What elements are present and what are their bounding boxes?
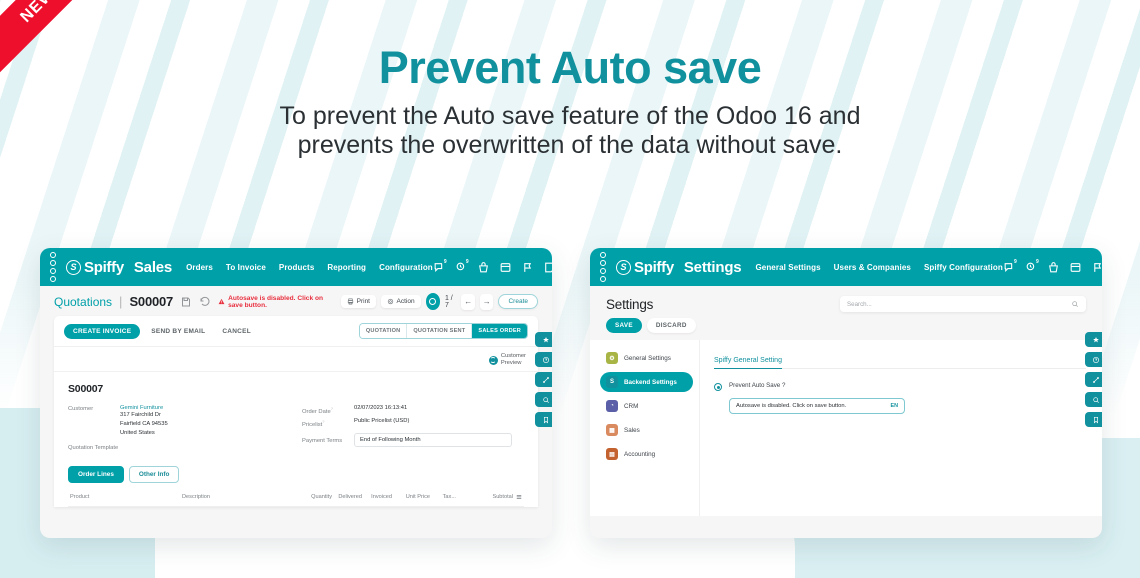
accounting-icon: ▤ xyxy=(606,448,618,460)
record-indicator-icon[interactable] xyxy=(426,293,440,310)
activities-icon[interactable]: 9 xyxy=(455,261,468,274)
order-date-label: Order Date? xyxy=(302,405,354,415)
autosave-message-value: Autosave is disabled. Click on save butt… xyxy=(736,403,891,409)
settings-search-box[interactable] xyxy=(840,296,1086,312)
messages-icon[interactable]: 9 xyxy=(433,261,446,274)
prevent-auto-save-checkbox[interactable] xyxy=(714,383,722,391)
language-badge[interactable]: EN xyxy=(891,403,899,409)
right-nav-menu: General Settings Users & Companies Spiff… xyxy=(755,263,1002,272)
left-navbar-icons: 9 9 xyxy=(433,258,552,276)
pager-count: 1 / 7 xyxy=(445,295,457,309)
left-nav-menu: Orders To Invoice Products Reporting Con… xyxy=(186,263,433,272)
customer-address-line-1: 317 Fairchild Dr xyxy=(120,411,168,420)
help-icon[interactable] xyxy=(1085,352,1102,367)
customer-value-group: Gemini Furniture 317 Fairchild Dr Fairfi… xyxy=(120,405,168,438)
autosave-warning: Autosave is disabled. Click on save butt… xyxy=(218,295,334,309)
flag-icon[interactable] xyxy=(521,261,534,274)
column-subtotal: Subtotal xyxy=(492,494,522,500)
field-payment-terms: Payment Terms End of Following Month xyxy=(302,433,524,447)
sidebar-item-label: CRM xyxy=(624,403,638,410)
messages-icon-right[interactable]: 9 xyxy=(1003,261,1016,274)
action-label: Action xyxy=(397,298,415,305)
customer-preview-line-1: Customer xyxy=(501,353,526,359)
bag-icon[interactable] xyxy=(477,261,490,274)
stage-sales-order[interactable]: SALES ORDER xyxy=(472,324,527,338)
control-bar: Quotations | S00007 Autosave is disabled… xyxy=(40,286,552,316)
section-title: Spiffy General Setting xyxy=(714,357,782,369)
sidebar-item-label: Accounting xyxy=(624,451,655,458)
order-lines-header: Product Description Quantity Delivered I… xyxy=(68,490,524,507)
autosave-warning-text: Autosave is disabled. Click on save butt… xyxy=(228,295,334,309)
customer-address-line-3: United States xyxy=(120,429,168,438)
star-icon[interactable] xyxy=(535,332,552,347)
customer-preview-label: Customer Preview xyxy=(501,353,526,367)
column-tax: Tax... xyxy=(430,494,456,500)
note-icon[interactable] xyxy=(543,261,552,274)
pager-previous-button[interactable]: ← xyxy=(461,294,475,310)
brand-name-right: Spiffy xyxy=(634,259,674,276)
app-name-settings: Settings xyxy=(684,259,742,276)
activities-icon-right[interactable]: 9 xyxy=(1025,261,1038,274)
page-title: Prevent Auto save xyxy=(0,42,1140,94)
sales-icon: ▦ xyxy=(606,424,618,436)
help-icon[interactable] xyxy=(535,352,552,367)
brand-logo-right[interactable]: S Spiffy xyxy=(616,259,674,276)
page-subtitle-line-1: To prevent the Auto save feature of the … xyxy=(0,102,1140,131)
activities-badge-right: 9 xyxy=(1034,259,1041,266)
create-button[interactable]: Create xyxy=(498,294,538,309)
bag-icon-right[interactable] xyxy=(1047,261,1060,274)
left-navbar: S Spiffy Sales Orders To Invoice Product… xyxy=(40,248,552,286)
activities-badge: 9 xyxy=(464,259,471,266)
breadcrumb-quotations[interactable]: Quotations xyxy=(54,295,112,309)
link-icon[interactable] xyxy=(1085,372,1102,387)
customer-label: Customer xyxy=(68,405,120,438)
prevent-auto-save-option: Prevent Auto Save ? xyxy=(714,382,1086,391)
record-body: S00007 Customer Gemini Furniture 317 Fai… xyxy=(54,371,538,507)
column-delivered: Delivered xyxy=(332,494,362,500)
save-icon[interactable] xyxy=(180,296,192,308)
nav-item-to-invoice[interactable]: To Invoice xyxy=(226,263,266,272)
sidebar-item-label: Sales xyxy=(624,427,640,434)
settings-header: Settings xyxy=(590,286,1102,312)
pricelist-label: Pricelist? xyxy=(302,418,354,428)
warning-triangle-icon xyxy=(218,297,225,306)
print-label: Print xyxy=(357,298,370,305)
sidebar-item-label: General Settings xyxy=(624,355,671,362)
prevent-auto-save-label: Prevent Auto Save ? xyxy=(729,382,785,389)
record-columns: Customer Gemini Furniture 317 Fairchild … xyxy=(68,405,524,454)
search-icon[interactable] xyxy=(1071,300,1079,308)
record-right-column: Order Date? 02/07/2023 16:13:41 Pricelis… xyxy=(302,405,524,454)
column-options-icon[interactable] xyxy=(516,494,522,500)
flag-icon-right[interactable] xyxy=(1091,261,1102,274)
column-subtotal-label: Subtotal xyxy=(492,494,513,500)
stage-statusbar: QUOTATION QUOTATION SENT SALES ORDER xyxy=(359,323,528,339)
sales-app-window: S Spiffy Sales Orders To Invoice Product… xyxy=(40,248,552,538)
grid-icon[interactable] xyxy=(499,261,512,274)
spiffy-logo-icon-right: S xyxy=(616,260,631,275)
nav-item-spiffy-configuration[interactable]: Spiffy Configuration xyxy=(924,263,1003,272)
search-input[interactable] xyxy=(847,301,1066,308)
apps-menu-icon-right[interactable] xyxy=(600,252,606,282)
settings-main-panel: Spiffy General Setting Prevent Auto Save… xyxy=(700,340,1102,516)
stage-quotation-sent[interactable]: QUOTATION SENT xyxy=(407,324,472,338)
search-icon[interactable] xyxy=(1085,392,1102,407)
payment-terms-input[interactable]: End of Following Month xyxy=(354,433,512,447)
sidebar-item-sales[interactable]: ▦ Sales xyxy=(600,420,693,440)
customer-preview-button[interactable]: Customer Preview xyxy=(489,353,526,367)
field-order-date: Order Date? 02/07/2023 16:13:41 xyxy=(302,405,524,415)
right-navbar-icons: 9 9 xyxy=(1003,258,1102,276)
link-icon[interactable] xyxy=(535,372,552,387)
settings-page-title: Settings xyxy=(606,297,653,312)
messages-badge: 9 xyxy=(442,259,449,266)
column-quantity: Quantity xyxy=(302,494,332,500)
column-description: Description xyxy=(182,494,302,500)
record-tabs: Order Lines Other Info xyxy=(68,466,524,483)
nav-item-general-settings[interactable]: General Settings xyxy=(755,263,820,272)
spiffy-icon: S xyxy=(606,376,618,388)
settings-action-buttons: SAVE DISCARD xyxy=(590,312,1102,340)
app-name-sales: Sales xyxy=(134,259,172,276)
customer-address-line-2: Fairfield CA 94535 xyxy=(120,420,168,429)
record-statusbar: CREATE INVOICE SEND BY EMAIL CANCEL QUOT… xyxy=(54,316,538,347)
spiffy-logo-icon: S xyxy=(66,260,81,275)
print-button[interactable]: Print xyxy=(341,295,376,308)
pricelist-label-text: Pricelist xyxy=(302,422,322,428)
field-customer: Customer Gemini Furniture 317 Fairchild … xyxy=(68,405,290,438)
nav-item-reporting[interactable]: Reporting xyxy=(327,263,366,272)
record-sheet: CREATE INVOICE SEND BY EMAIL CANCEL QUOT… xyxy=(54,316,538,507)
record-left-column: Customer Gemini Furniture 317 Fairchild … xyxy=(68,405,290,454)
column-invoiced: Invoiced xyxy=(362,494,392,500)
settings-sidebar: ⚙ General Settings S Backend Settings ◔ … xyxy=(590,340,700,516)
bookmark-icon[interactable] xyxy=(1085,412,1102,427)
field-quotation-template: Quotation Template xyxy=(68,444,290,451)
create-invoice-button[interactable]: CREATE INVOICE xyxy=(64,324,140,339)
sidebar-item-backend-settings[interactable]: S Backend Settings xyxy=(600,372,693,392)
nav-item-configuration[interactable]: Configuration xyxy=(379,263,433,272)
nav-item-products[interactable]: Products xyxy=(279,263,314,272)
messages-badge-right: 9 xyxy=(1012,259,1019,266)
order-date-label-text: Order Date xyxy=(302,409,331,415)
breadcrumb-current-record: S00007 xyxy=(129,294,173,309)
tab-other-info[interactable]: Other Info xyxy=(129,466,180,483)
column-product: Product xyxy=(70,494,182,500)
globe-icon xyxy=(489,356,498,365)
sidebar-item-crm[interactable]: ◔ CRM xyxy=(600,396,693,416)
stage-quotation[interactable]: QUOTATION xyxy=(360,324,408,338)
action-button[interactable]: Action xyxy=(381,295,421,308)
cancel-button[interactable]: CANCEL xyxy=(216,325,257,338)
page-subtitle: To prevent the Auto save feature of the … xyxy=(0,102,1140,159)
sidebar-item-label: Backend Settings xyxy=(624,379,677,386)
sidebar-item-accounting[interactable]: ▤ Accounting xyxy=(600,444,693,464)
discard-button[interactable]: DISCARD xyxy=(647,318,696,333)
pricelist-value[interactable]: Public Pricelist (USD) xyxy=(354,418,409,428)
brand-name: Spiffy xyxy=(84,259,124,276)
payment-terms-label: Payment Terms xyxy=(302,437,354,444)
save-button[interactable]: SAVE xyxy=(606,318,642,333)
gear-icon: ⚙ xyxy=(606,352,618,364)
settings-app-window: S Spiffy Settings General Settings Users… xyxy=(590,248,1102,538)
right-navbar: S Spiffy Settings General Settings Users… xyxy=(590,248,1102,286)
control-bar-right: Print Action 1 / 7 ← → Create xyxy=(341,293,538,310)
nav-item-orders[interactable]: Orders xyxy=(186,263,213,272)
autosave-message-input[interactable]: Autosave is disabled. Click on save butt… xyxy=(729,398,905,414)
breadcrumb-separator: | xyxy=(119,294,122,309)
brand-logo[interactable]: S Spiffy xyxy=(66,259,124,276)
customer-preview-row: Customer Preview xyxy=(54,347,538,371)
quotation-template-label: Quotation Template xyxy=(68,444,118,451)
page-subtitle-line-2: prevents the overwritten of the data wit… xyxy=(0,131,1140,160)
order-date-value[interactable]: 02/07/2023 16:13:41 xyxy=(354,405,407,415)
bookmark-icon[interactable] xyxy=(535,412,552,427)
column-unit-price: Unit Price xyxy=(392,494,430,500)
crm-icon: ◔ xyxy=(606,400,618,412)
record-title: S00007 xyxy=(68,383,524,395)
left-side-toolbar xyxy=(535,332,552,427)
sidebar-item-general-settings[interactable]: ⚙ General Settings xyxy=(600,348,693,368)
sheet-wrapper: CREATE INVOICE SEND BY EMAIL CANCEL QUOT… xyxy=(40,316,552,507)
grid-icon-right[interactable] xyxy=(1069,261,1082,274)
send-by-email-button[interactable]: SEND BY EMAIL xyxy=(145,325,211,338)
field-pricelist: Pricelist? Public Pricelist (USD) xyxy=(302,418,524,428)
tab-order-lines[interactable]: Order Lines xyxy=(68,466,124,483)
settings-body: ⚙ General Settings S Backend Settings ◔ … xyxy=(590,340,1102,516)
star-icon[interactable] xyxy=(1085,332,1102,347)
apps-menu-icon[interactable] xyxy=(50,252,56,282)
nav-item-users-companies[interactable]: Users & Companies xyxy=(834,263,911,272)
discard-icon[interactable] xyxy=(199,296,211,308)
right-side-toolbar xyxy=(1085,332,1102,427)
pager-next-button[interactable]: → xyxy=(480,294,494,310)
search-icon[interactable] xyxy=(535,392,552,407)
customer-preview-line-2: Preview xyxy=(501,360,522,366)
